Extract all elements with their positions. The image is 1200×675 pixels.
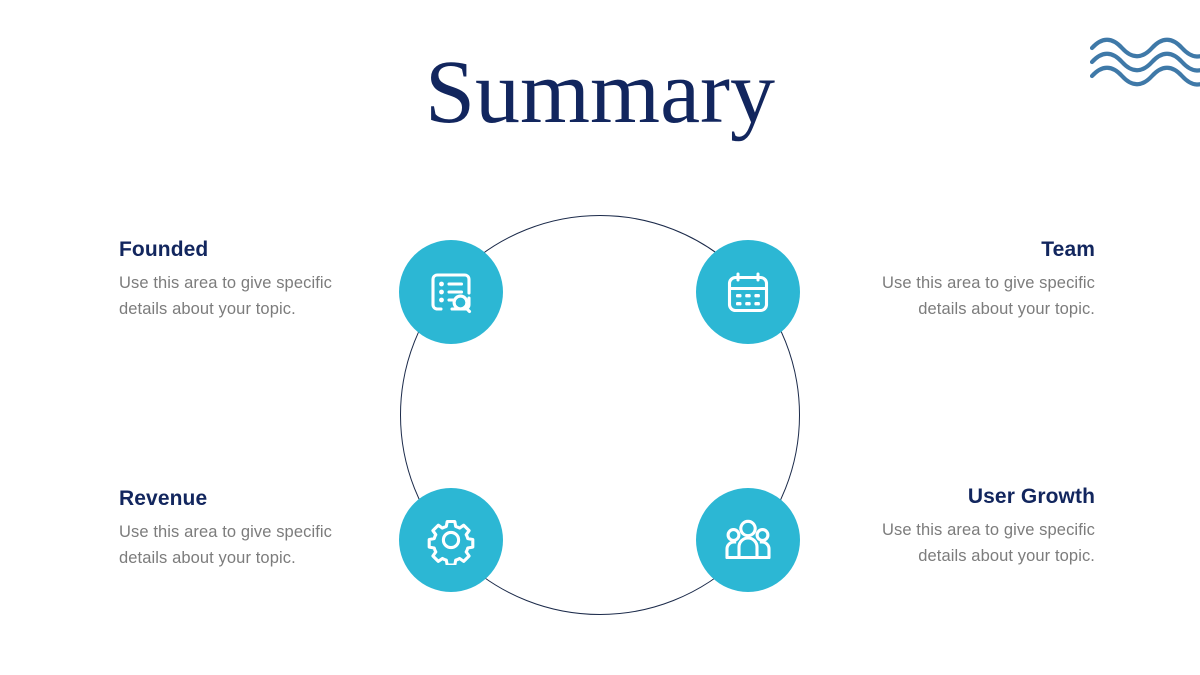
info-block-founded: Founded Use this area to give specific d…: [119, 238, 359, 322]
page-title: Summary: [0, 48, 1200, 138]
icon-bubble-user-growth[interactable]: [696, 488, 800, 592]
info-body-team: Use this area to give specific details a…: [855, 270, 1095, 322]
summary-slide: Summary: [0, 0, 1200, 675]
icon-bubble-team[interactable]: [696, 240, 800, 344]
document-list-search-icon: [426, 267, 476, 317]
calendar-icon: [723, 267, 773, 317]
info-block-user-growth: User Growth Use this area to give specif…: [855, 485, 1095, 569]
people-group-icon: [722, 515, 774, 565]
gear-icon: [426, 515, 476, 565]
info-heading-user-growth: User Growth: [855, 485, 1095, 508]
info-body-revenue: Use this area to give specific details a…: [119, 519, 359, 571]
info-body-founded: Use this area to give specific details a…: [119, 270, 359, 322]
wave-lines-decoration: [1090, 36, 1200, 88]
info-heading-team: Team: [855, 238, 1095, 261]
info-block-revenue: Revenue Use this area to give specific d…: [119, 487, 359, 571]
icon-bubble-revenue[interactable]: [399, 488, 503, 592]
info-heading-founded: Founded: [119, 238, 359, 261]
info-body-user-growth: Use this area to give specific details a…: [855, 517, 1095, 569]
icon-bubble-founded[interactable]: [399, 240, 503, 344]
info-block-team: Team Use this area to give specific deta…: [855, 238, 1095, 322]
info-heading-revenue: Revenue: [119, 487, 359, 510]
